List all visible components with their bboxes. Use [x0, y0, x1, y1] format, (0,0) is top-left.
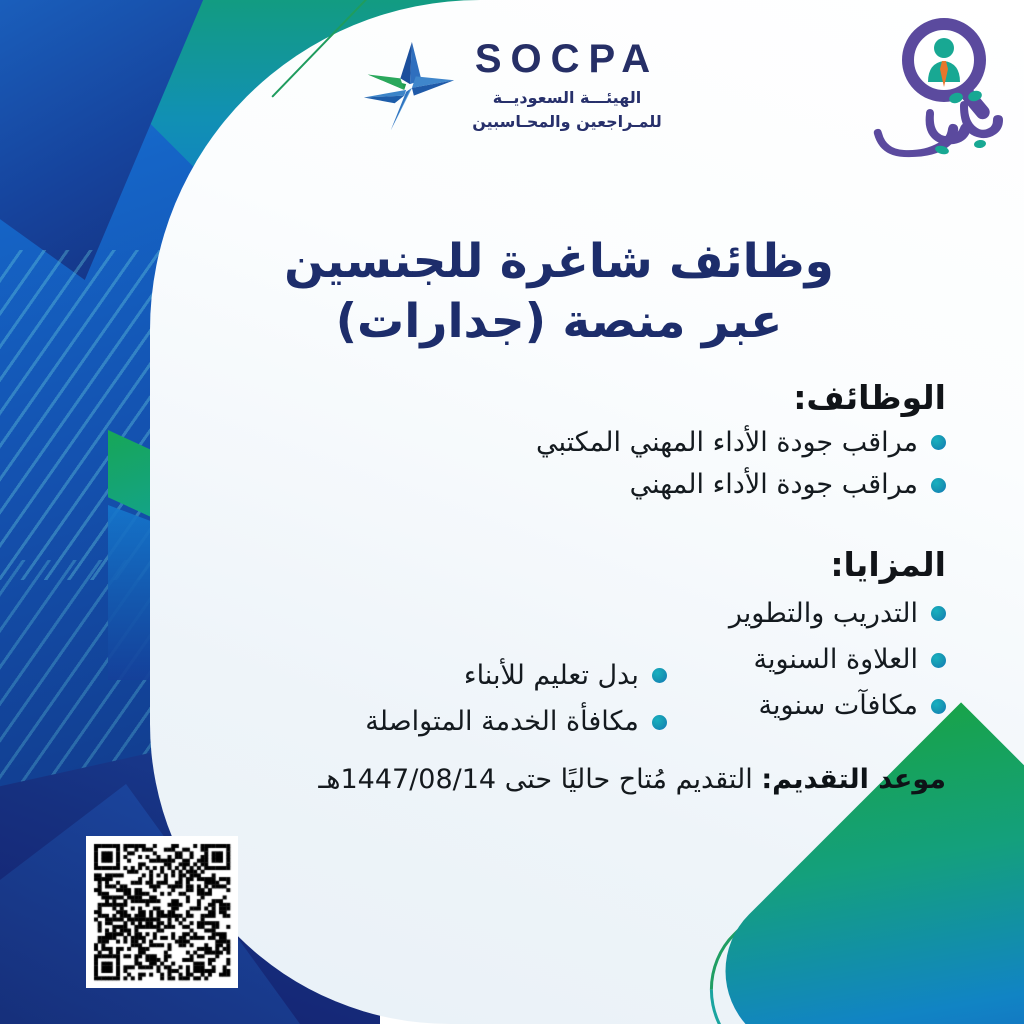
bullet-dot-icon	[931, 699, 946, 714]
benefit-item: العلاوة السنوية	[753, 641, 918, 679]
socpa-wordmark: SOCPA	[475, 39, 659, 79]
benefit-item: مكافأة الخدمة المتواصلة	[365, 703, 639, 741]
list-item: مراقب جودة الأداء المهني المكتبي	[536, 424, 946, 462]
bullet-dot-icon	[931, 478, 946, 493]
job-title: مراقب جودة الأداء المهني المكتبي	[536, 424, 918, 462]
list-item: مكافأة الخدمة المتواصلة	[365, 703, 667, 741]
qr-code[interactable]	[86, 836, 238, 988]
bullet-dot-icon	[652, 715, 667, 730]
benefits-list-right: التدريب والتطوير العلاوة السنوية مكافآت …	[729, 591, 946, 730]
jobs-heading: الوظائف:	[536, 378, 946, 418]
socpa-star-icon	[362, 38, 458, 134]
benefits-list-left: بدل تعليم للأبناء مكافأة الخدمة المتواصل…	[365, 591, 667, 746]
list-item: بدل تعليم للأبناء	[365, 657, 667, 695]
bullet-dot-icon	[652, 668, 667, 683]
deadline-value: التقديم مُتاح حاليًا حتى 1447/08/14هـ	[318, 764, 752, 795]
deadline-text: موعد التقديم: التقديم مُتاح حاليًا حتى 1…	[318, 761, 946, 799]
tawzeef-logo	[856, 14, 1006, 169]
list-item: مكافآت سنوية	[729, 687, 946, 725]
qr-code-canvas	[86, 836, 238, 988]
title-line-1: وظائف شاغرة للجنسين	[150, 232, 968, 292]
bullet-dot-icon	[931, 435, 946, 450]
benefit-item: التدريب والتطوير	[729, 595, 918, 633]
benefit-item: بدل تعليم للأبناء	[464, 657, 639, 695]
title-line-2: عبر منصة (جدارات)	[150, 292, 968, 352]
benefit-item: مكافآت سنوية	[759, 687, 918, 725]
job-title: مراقب جودة الأداء المهني	[630, 466, 918, 504]
jobs-list: مراقب جودة الأداء المهني المكتبي مراقب ج…	[536, 424, 946, 505]
bullet-dot-icon	[931, 653, 946, 668]
magnifier-person-icon	[908, 24, 993, 122]
page-title: وظائف شاغرة للجنسين عبر منصة (جدارات)	[150, 232, 968, 352]
list-item: العلاوة السنوية	[729, 641, 946, 679]
benefits-columns: التدريب والتطوير العلاوة السنوية مكافآت …	[365, 591, 946, 746]
list-item: مراقب جودة الأداء المهني	[536, 466, 946, 504]
jobs-section: الوظائف: مراقب جودة الأداء المهني المكتب…	[536, 378, 946, 508]
list-item: التدريب والتطوير	[729, 595, 946, 633]
deadline-label: موعد التقديم:	[761, 764, 946, 795]
socpa-arabic-line-1: الهيئـــة السعوديــة	[493, 86, 642, 109]
poster-root: SOCPA الهيئـــة السعوديــة للمـراجعين وا…	[0, 0, 1024, 1024]
benefits-heading: المزايا:	[365, 545, 946, 585]
socpa-arabic-line-2: للمـراجعين والمحـاسبين	[472, 110, 662, 133]
benefits-section: المزايا: التدريب والتطوير العلاوة السنوي…	[365, 545, 946, 745]
bullet-dot-icon	[931, 606, 946, 621]
